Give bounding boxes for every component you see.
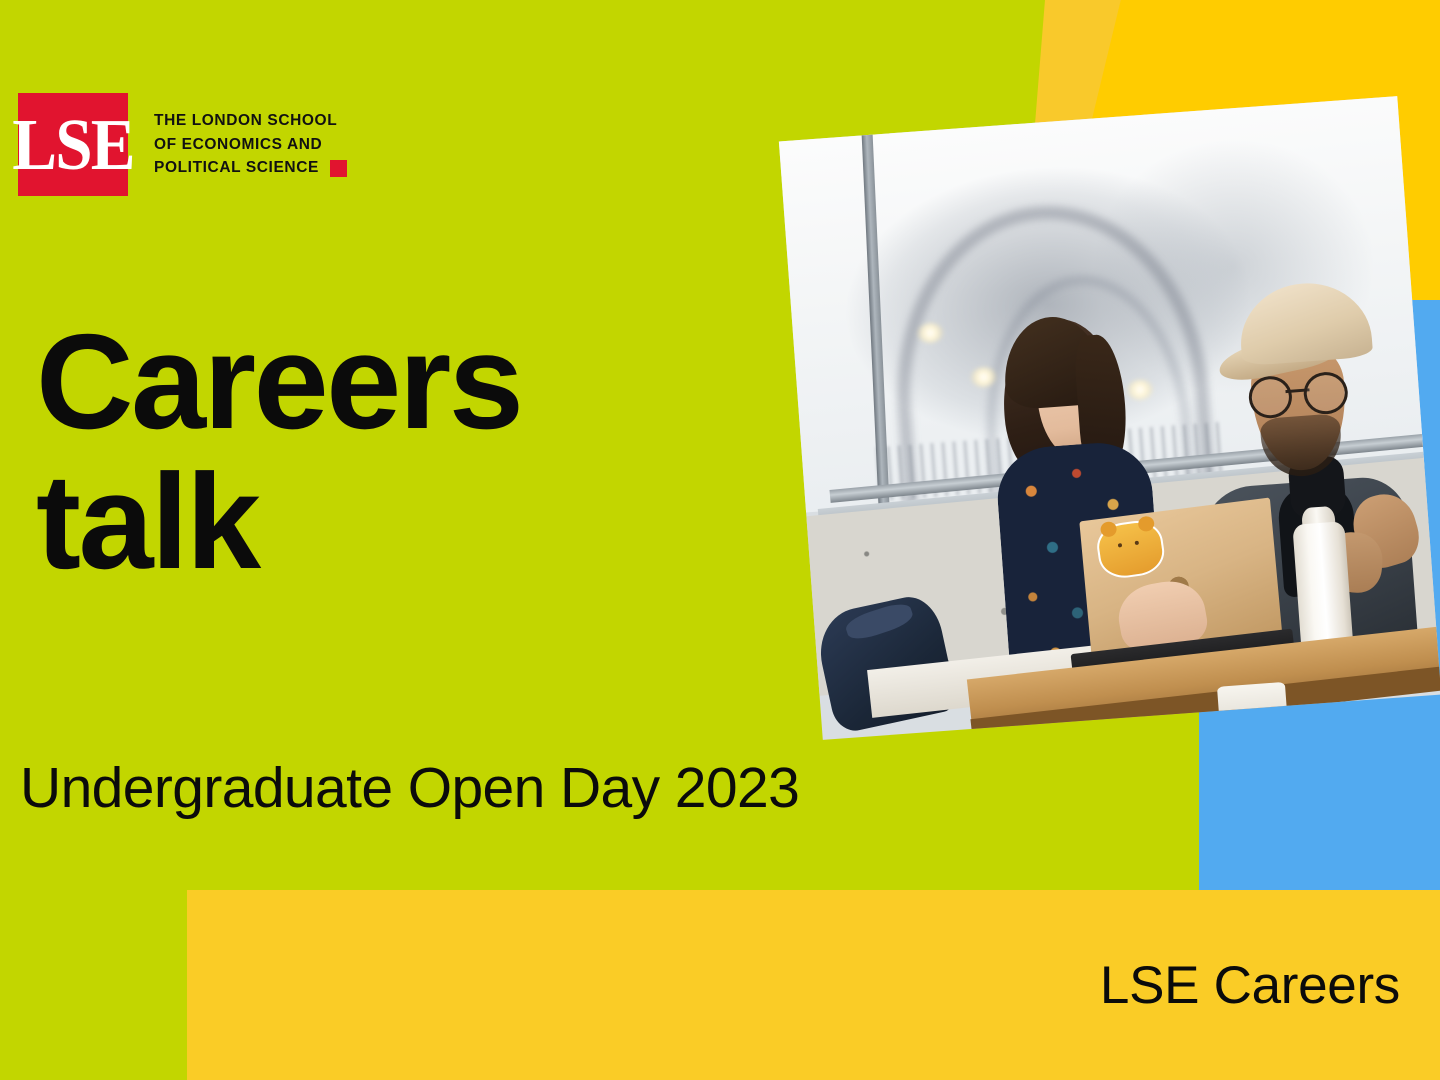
page-title-line-1: Careers [36, 312, 736, 452]
lse-logo-line-3-text: POLITICAL SCIENCE [154, 156, 319, 180]
sticker-eye-right [1135, 541, 1140, 546]
lse-logo-line-2: OF ECONOMICS AND [154, 133, 347, 157]
students-photo [779, 96, 1440, 740]
lse-logo-wordmark: THE LONDON SCHOOL OF ECONOMICS AND POLIT… [154, 93, 347, 196]
lse-logo-line-1: THE LONDON SCHOOL [154, 109, 347, 133]
lse-logo-mark-text: LSE [12, 108, 133, 181]
lse-logo-line-1-text: THE LONDON SCHOOL [154, 109, 337, 133]
lse-logo-red-square-icon [330, 160, 347, 177]
page-title-line-2: talk [36, 452, 736, 592]
slide-canvas: LSE THE LONDON SCHOOL OF ECONOMICS AND P… [0, 0, 1440, 1080]
sticker-eye-left [1118, 543, 1123, 548]
footer-label: LSE Careers [1100, 955, 1400, 1016]
photo-artwork [779, 96, 1440, 740]
page-title: Careers talk [36, 312, 736, 593]
sticker-ear-left [1100, 521, 1118, 538]
lse-logo: LSE THE LONDON SCHOOL OF ECONOMICS AND P… [18, 93, 347, 196]
lse-logo-line-2-text: OF ECONOMICS AND [154, 133, 322, 157]
page-subtitle: Undergraduate Open Day 2023 [20, 755, 799, 821]
glasses-icon [1247, 371, 1349, 414]
lse-logo-mark: LSE [18, 93, 128, 196]
lse-logo-line-3: POLITICAL SCIENCE [154, 156, 347, 180]
